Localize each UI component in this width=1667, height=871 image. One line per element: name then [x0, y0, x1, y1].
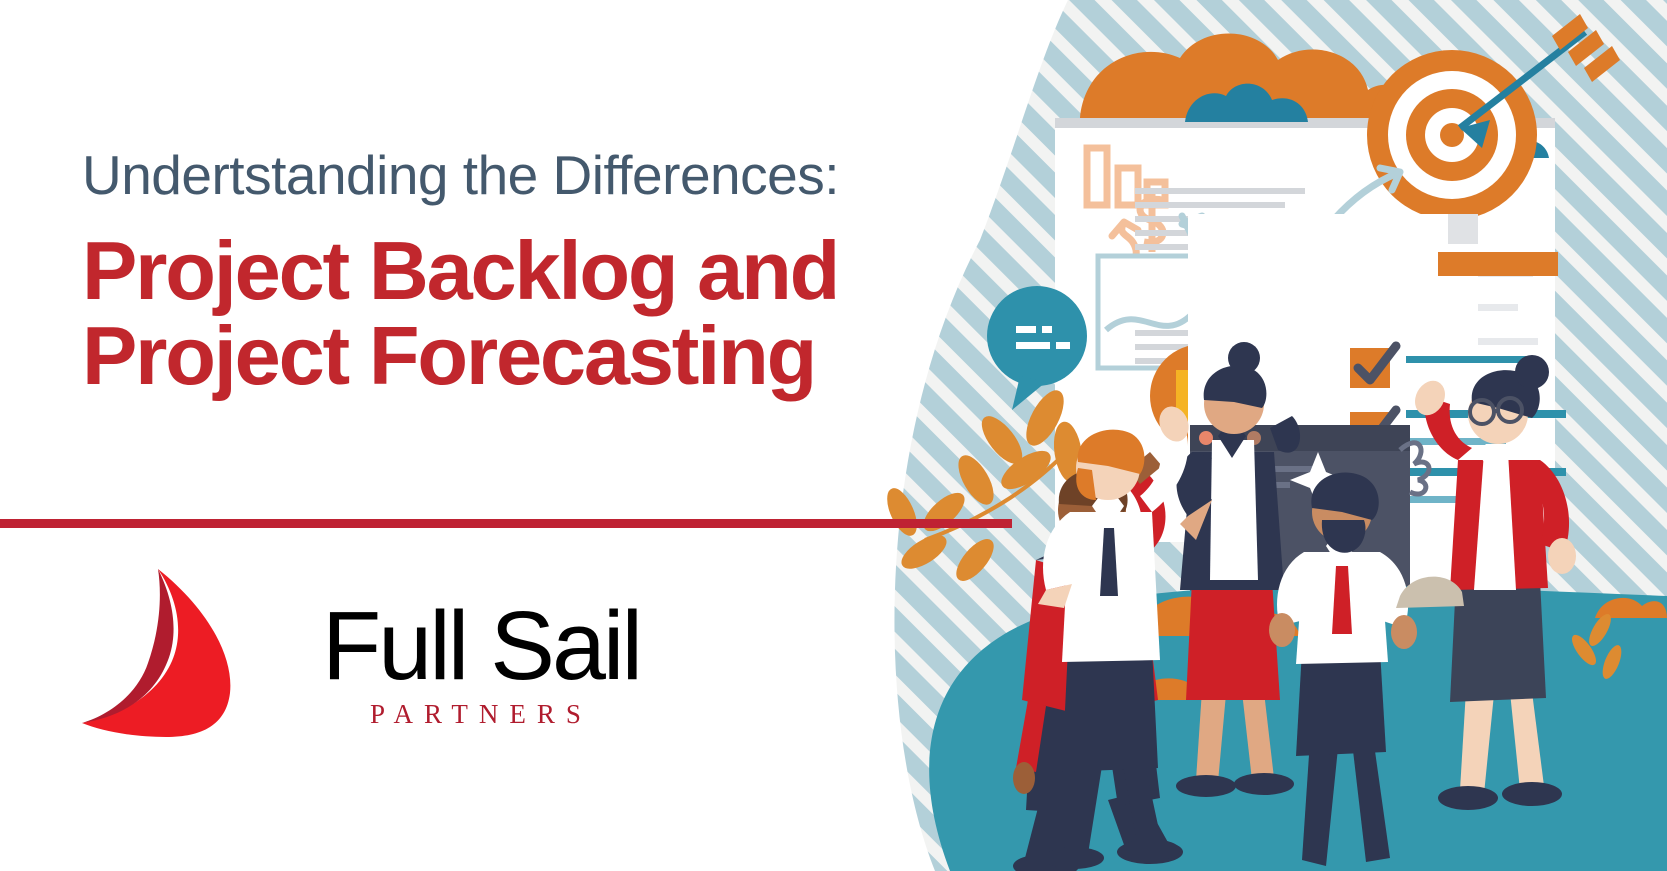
- page-title-line-1: Project Backlog and: [82, 224, 838, 317]
- sail-icon: [80, 565, 245, 740]
- logo-tagline: PARTNERS: [370, 701, 592, 728]
- banner-root: Undertstanding the Differences: Project …: [0, 0, 1667, 871]
- red-divider-rule: [0, 519, 1012, 528]
- hero-illustration: [840, 0, 1667, 871]
- page-title-line-2: Project Forecasting: [82, 310, 982, 401]
- heading-block: Undertstanding the Differences: Project …: [82, 148, 982, 402]
- page-subtitle: Undertstanding the Differences:: [82, 148, 982, 203]
- bullseye-target: [1367, 50, 1537, 220]
- full-sail-partners-logo[interactable]: Full Sail PARTNERS: [80, 565, 600, 755]
- page-title: Project Backlog and Project Forecasting: [82, 225, 982, 402]
- logo-wordmark: Full Sail: [322, 597, 640, 694]
